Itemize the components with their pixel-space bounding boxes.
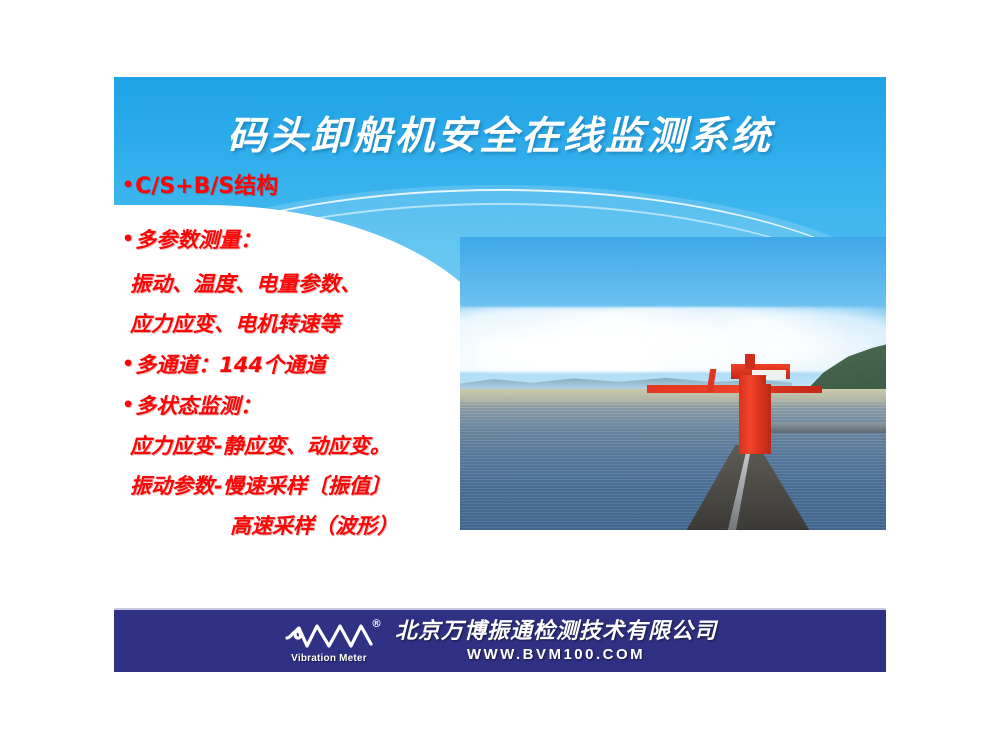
- photo-sea-texture: [460, 401, 886, 530]
- company-url[interactable]: WWW.BVM100.COM: [467, 647, 645, 662]
- bullet-marker: •: [122, 174, 135, 196]
- list-item-label: 多状态监测：: [135, 394, 261, 418]
- list-item-label: 多通道：144个通道: [135, 353, 326, 377]
- presentation-slide: 码头卸船机安全在线监测系统 •C/S+B/S结构 •多参数测量： 振动、温度、电…: [114, 77, 886, 672]
- list-item: 应力应变-静应变、动应变。: [122, 426, 482, 466]
- list-item-label: 振动、温度、电量参数、: [130, 272, 361, 296]
- footer-content: ® Vibration Meter 北京万博振通检测技术有限公司 WWW.BVM…: [283, 618, 717, 664]
- photo-crane-tower-secondary: [758, 384, 771, 454]
- list-item: •C/S+B/S结构: [122, 165, 482, 207]
- ship-unloader-photo: [460, 237, 886, 530]
- logo-caption: Vibration Meter: [283, 653, 375, 664]
- bullet-list: •C/S+B/S结构 •多参数测量： 振动、温度、电量参数、 应力应变、电机转速…: [122, 165, 482, 546]
- vibration-meter-logo: ® Vibration Meter: [283, 618, 383, 664]
- list-item: •多通道：144个通道: [122, 344, 482, 385]
- bullet-marker: •: [122, 394, 135, 416]
- list-item: •多状态监测：: [122, 385, 482, 426]
- list-item: •多参数测量：: [122, 219, 482, 260]
- photo-jetty: [767, 422, 886, 434]
- bullet-marker: •: [122, 353, 135, 375]
- list-item-label: 应力应变-静应变、动应变。: [130, 434, 391, 458]
- list-item-label: C/S+B/S结构: [135, 174, 278, 199]
- company-name: 北京万博振通检测技术有限公司: [395, 621, 717, 643]
- list-item: 高速采样（波形）: [122, 506, 482, 546]
- footer-bar: ® Vibration Meter 北京万博振通检测技术有限公司 WWW.BVM…: [114, 608, 886, 672]
- list-item: 应力应变、电机转速等: [122, 304, 482, 344]
- list-item: 振动参数-慢速采样〔振值〕: [122, 466, 482, 506]
- bullet-marker: •: [122, 228, 135, 250]
- list-item: 振动、温度、电量参数、: [122, 264, 482, 304]
- photo-crane-arm-right: [762, 386, 822, 392]
- waveform-icon: [283, 618, 383, 654]
- list-item-label: 应力应变、电机转速等: [130, 312, 340, 336]
- photo-crane-mast: [745, 354, 754, 369]
- list-item-label: 振动参数-慢速采样〔振值〕: [130, 474, 391, 498]
- list-item-label: 高速采样（波形）: [230, 514, 398, 538]
- footer-text-group: 北京万博振通检测技术有限公司 WWW.BVM100.COM: [395, 621, 717, 662]
- page-title: 码头卸船机安全在线监测系统: [114, 105, 886, 161]
- list-item-label: 多参数测量：: [135, 228, 261, 252]
- registered-trademark-icon: ®: [371, 617, 382, 630]
